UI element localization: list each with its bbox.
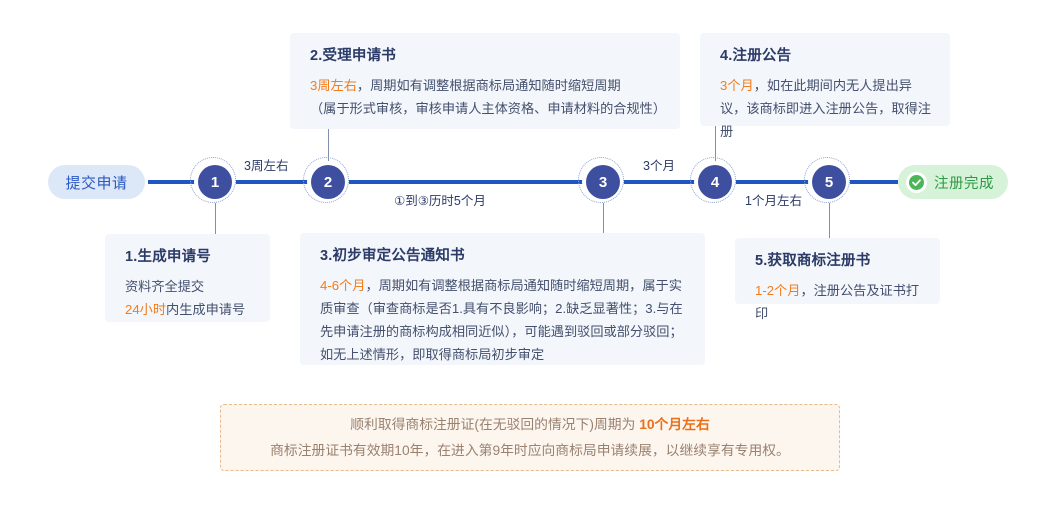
summary-note-line-1-highlight: 10个月左右 (639, 417, 710, 432)
timeline-node-1[interactable]: 1 (198, 165, 232, 199)
gap-label-4-5: 1个月左右 (745, 190, 802, 209)
step-card-5-body: 1-2个月，注册公告及证书打印 (755, 279, 922, 325)
step-card-4-title: 4.注册公告 (720, 47, 932, 66)
step-card-2-line1-rest: ，周期如有调整根据商标局通知随时缩短周期 (357, 78, 621, 93)
step-card-2-title: 2.受理申请书 (310, 47, 662, 66)
step-card-5: 5.获取商标注册书 1-2个月，注册公告及证书打印 (735, 238, 940, 304)
step-card-3-highlight: 4-6个月 (320, 278, 365, 293)
step-card-4-highlight: 3个月 (720, 78, 754, 93)
step-card-3: 3.初步审定公告通知书 4-6个月，周期如有调整根据商标局通知随时缩短周期，属于… (300, 233, 705, 365)
step-card-2: 2.受理申请书 3周左右，周期如有调整根据商标局通知随时缩短周期 （属于形式审核… (290, 33, 680, 129)
trademark-registration-timeline: 2.受理申请书 3周左右，周期如有调整根据商标局通知随时缩短周期 （属于形式审核… (0, 0, 1056, 505)
step-card-1-line2-rest: 内生成申请号 (166, 302, 245, 317)
timeline-node-3[interactable]: 3 (586, 165, 620, 199)
step-card-1-highlight: 24小时 (125, 302, 166, 317)
summary-note-line-2: 商标注册证书有效期10年，在进入第9年时应向商标局申请续展，以继续享有专用权。 (270, 438, 790, 464)
timeline-node-2-number: 2 (324, 174, 332, 191)
gap-label-2-3: ①到③历时5个月 (394, 190, 486, 209)
step-card-2-body: 3周左右，周期如有调整根据商标局通知随时缩短周期 （属于形式审核，审核申请人主体… (310, 74, 662, 120)
timeline-node-2[interactable]: 2 (311, 165, 345, 199)
timeline-node-4[interactable]: 4 (698, 165, 732, 199)
connector-stem-5 (829, 201, 830, 238)
step-card-5-highlight: 1-2个月 (755, 283, 800, 298)
end-badge-label: 注册完成 (934, 172, 994, 193)
step-card-1-title: 1.生成申请号 (125, 248, 252, 267)
summary-note-line-1-prefix: 顺利取得商标注册证(在无驳回的情况下)周期为 (350, 417, 639, 432)
step-card-4-body: 3个月，如在此期间内无人提出异议，该商标即进入注册公告，取得注册 (720, 74, 932, 143)
step-card-2-line2: （属于形式审核，审核申请人主体资格、申请材料的合规性） (310, 97, 662, 120)
gap-label-3-4: 3个月 (643, 155, 675, 174)
step-card-4: 4.注册公告 3个月，如在此期间内无人提出异议，该商标即进入注册公告，取得注册 (700, 33, 950, 126)
timeline-node-3-number: 3 (599, 174, 607, 191)
timeline-node-5[interactable]: 5 (812, 165, 846, 199)
gap-label-1-2: 3周左右 (244, 155, 288, 174)
start-pill-label: 提交申请 (65, 172, 127, 193)
summary-note: 顺利取得商标注册证(在无驳回的情况下)周期为 10个月左右 商标注册证书有效期1… (220, 404, 840, 471)
step-card-1-line1: 资料齐全提交 (125, 275, 252, 298)
step-card-1-body: 资料齐全提交 24小时内生成申请号 (125, 275, 252, 321)
step-card-5-title: 5.获取商标注册书 (755, 252, 922, 271)
step-card-3-body-rest: ，周期如有调整根据商标局通知随时缩短周期，属于实质审查（审查商标是否1.具有不良… (320, 278, 683, 362)
timeline-rail (148, 180, 898, 184)
timeline-node-1-number: 1 (211, 174, 219, 191)
start-pill: 提交申请 (48, 165, 145, 199)
timeline-node-5-number: 5 (825, 174, 833, 191)
connector-stem-3 (603, 201, 604, 233)
step-card-3-body: 4-6个月，周期如有调整根据商标局通知随时缩短周期，属于实质审查（审查商标是否1… (320, 274, 687, 366)
timeline-node-4-number: 4 (711, 174, 719, 191)
step-card-2-highlight: 3周左右 (310, 78, 357, 93)
summary-note-line-1: 顺利取得商标注册证(在无驳回的情况下)周期为 10个月左右 (350, 412, 710, 438)
end-badge: 注册完成 (898, 165, 1008, 199)
check-icon (906, 172, 927, 193)
step-card-3-title: 3.初步审定公告通知书 (320, 247, 687, 266)
step-card-1: 1.生成申请号 资料齐全提交 24小时内生成申请号 (105, 234, 270, 322)
connector-stem-1 (215, 201, 216, 234)
